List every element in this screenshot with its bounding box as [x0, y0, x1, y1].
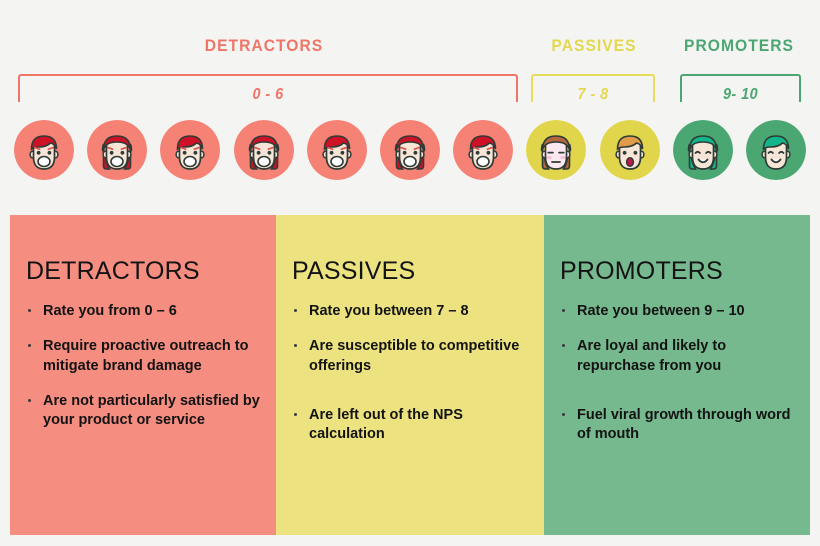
detractor-face-6-icon: [380, 120, 440, 180]
bullet-list-passives: Rate you between 7 – 8 Are susceptible t…: [292, 302, 528, 444]
list-item: Are susceptible to competitive offerings: [292, 337, 528, 376]
header-label-passives: PASSIVES: [535, 36, 653, 56]
avatar-row: [0, 120, 820, 192]
panel-title-passives: PASSIVES: [292, 259, 528, 284]
bullet-list-detractors: Rate you from 0 – 6 Require proactive ou…: [26, 302, 260, 430]
passive-face-2-icon: [600, 120, 660, 180]
promoter-face-2-icon: [746, 120, 806, 180]
detractor-face-1-icon: [14, 120, 74, 180]
detractor-face-5-icon: [307, 120, 367, 180]
list-item: Fuel viral growth through word of mouth: [560, 406, 794, 445]
detractor-face-4-icon: [234, 120, 294, 180]
list-item: Are loyal and likely to repurchase from …: [560, 337, 794, 376]
score-range-detractors: 0 - 6: [178, 86, 358, 104]
promoter-face-1-icon: [673, 120, 733, 180]
nps-infographic: DETRACTORS PASSIVES PROMOTERS 0 - 6 7 - …: [0, 0, 820, 546]
score-range-promoters: 9- 10: [686, 86, 795, 104]
passive-face-1-icon: [526, 120, 586, 180]
category-panels: DETRACTORS Rate you from 0 – 6 Require p…: [10, 215, 810, 535]
detractor-face-3-icon: [160, 120, 220, 180]
list-item: Are left out of the NPS calculation: [292, 406, 528, 445]
list-item: Rate you from 0 – 6: [26, 302, 260, 321]
header-label-detractors: DETRACTORS: [159, 36, 369, 56]
detractor-face-2-icon: [87, 120, 147, 180]
panel-title-detractors: DETRACTORS: [26, 259, 260, 284]
header-label-promoters: PROMOTERS: [681, 36, 797, 56]
bullet-list-promoters: Rate you between 9 – 10 Are loyal and li…: [560, 302, 794, 444]
detractor-face-7-icon: [453, 120, 513, 180]
list-item: Rate you between 9 – 10: [560, 302, 794, 321]
panel-detractors: DETRACTORS Rate you from 0 – 6 Require p…: [10, 215, 276, 535]
score-range-passives: 7 - 8: [537, 86, 649, 104]
panel-passives: PASSIVES Rate you between 7 – 8 Are susc…: [276, 215, 544, 535]
panel-promoters: PROMOTERS Rate you between 9 – 10 Are lo…: [544, 215, 810, 535]
list-item: Are not particularly satisfied by your p…: [26, 392, 260, 431]
list-item: Rate you between 7 – 8: [292, 302, 528, 321]
panel-title-promoters: PROMOTERS: [560, 259, 794, 284]
list-item: Require proactive outreach to mitigate b…: [26, 337, 260, 376]
